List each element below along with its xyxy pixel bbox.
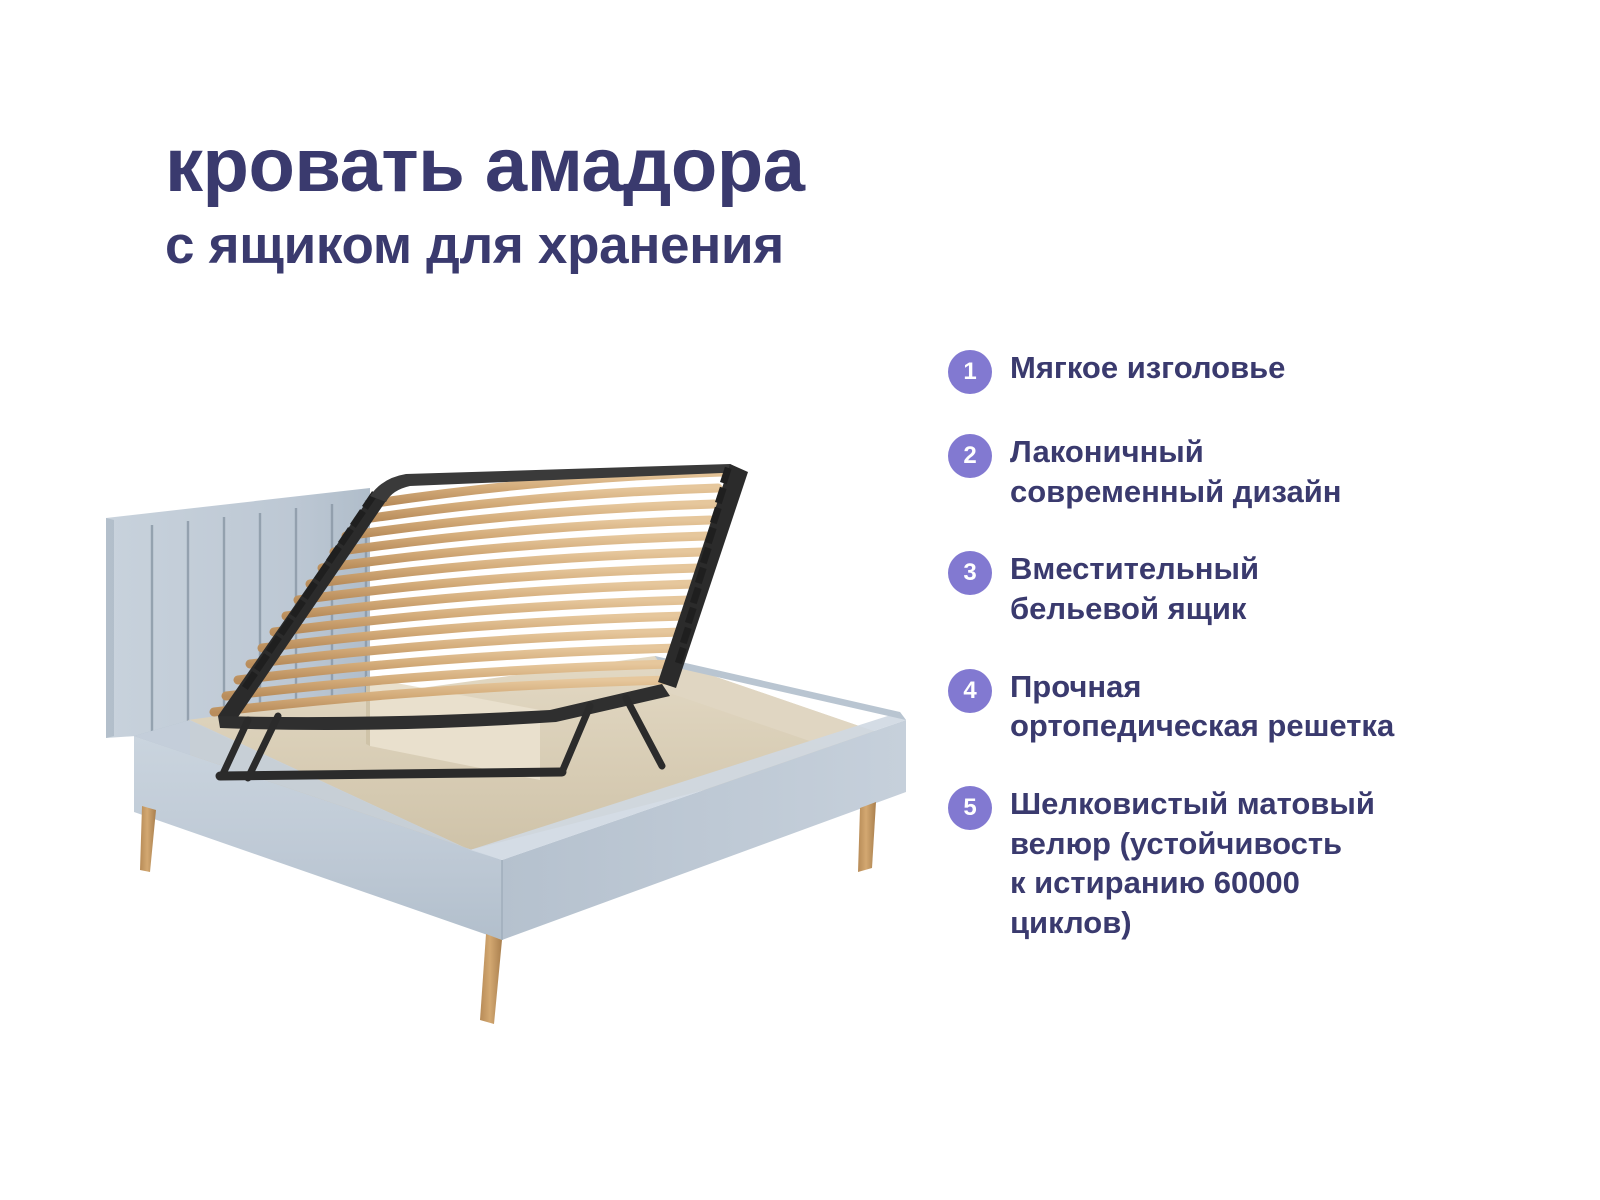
feature-number-badge: 4 bbox=[948, 669, 992, 713]
bed-illustration bbox=[70, 420, 930, 1060]
feature-label: Мягкое изголовье bbox=[1010, 348, 1285, 388]
list-item: 3 Вместительный бельевой ящик bbox=[948, 549, 1468, 628]
feature-number-badge: 5 bbox=[948, 786, 992, 830]
feature-label: Прочная ортопедическая решетка bbox=[1010, 667, 1394, 746]
list-item: 4 Прочная ортопедическая решетка bbox=[948, 667, 1468, 746]
page-title: кровать амадора bbox=[165, 128, 1065, 204]
leg-right bbox=[858, 802, 876, 872]
bed-svg bbox=[70, 420, 930, 1060]
infographic-page: кровать амадора с ящиком для хранения bbox=[0, 0, 1600, 1200]
feature-label: Лаконичный современный дизайн bbox=[1010, 432, 1342, 511]
list-item: 1 Мягкое изголовье bbox=[948, 348, 1468, 394]
page-subtitle: с ящиком для хранения bbox=[165, 218, 1065, 274]
heading-block: кровать амадора с ящиком для хранения bbox=[165, 128, 1065, 274]
feature-list: 1 Мягкое изголовье 2 Лаконичный современ… bbox=[948, 348, 1468, 943]
list-item: 5 Шелковистый матовый велюр (устойчивост… bbox=[948, 784, 1468, 943]
lift-cross-bar bbox=[220, 772, 562, 776]
feature-label: Вместительный бельевой ящик bbox=[1010, 549, 1259, 628]
list-item: 2 Лаконичный современный дизайн bbox=[948, 432, 1468, 511]
leg-front-center bbox=[480, 934, 502, 1024]
leg-back-left bbox=[140, 806, 156, 872]
feature-number-badge: 1 bbox=[948, 350, 992, 394]
feature-label: Шелковистый матовый велюр (устойчивость … bbox=[1010, 784, 1375, 943]
feature-number-badge: 3 bbox=[948, 551, 992, 595]
feature-number-badge: 2 bbox=[948, 434, 992, 478]
